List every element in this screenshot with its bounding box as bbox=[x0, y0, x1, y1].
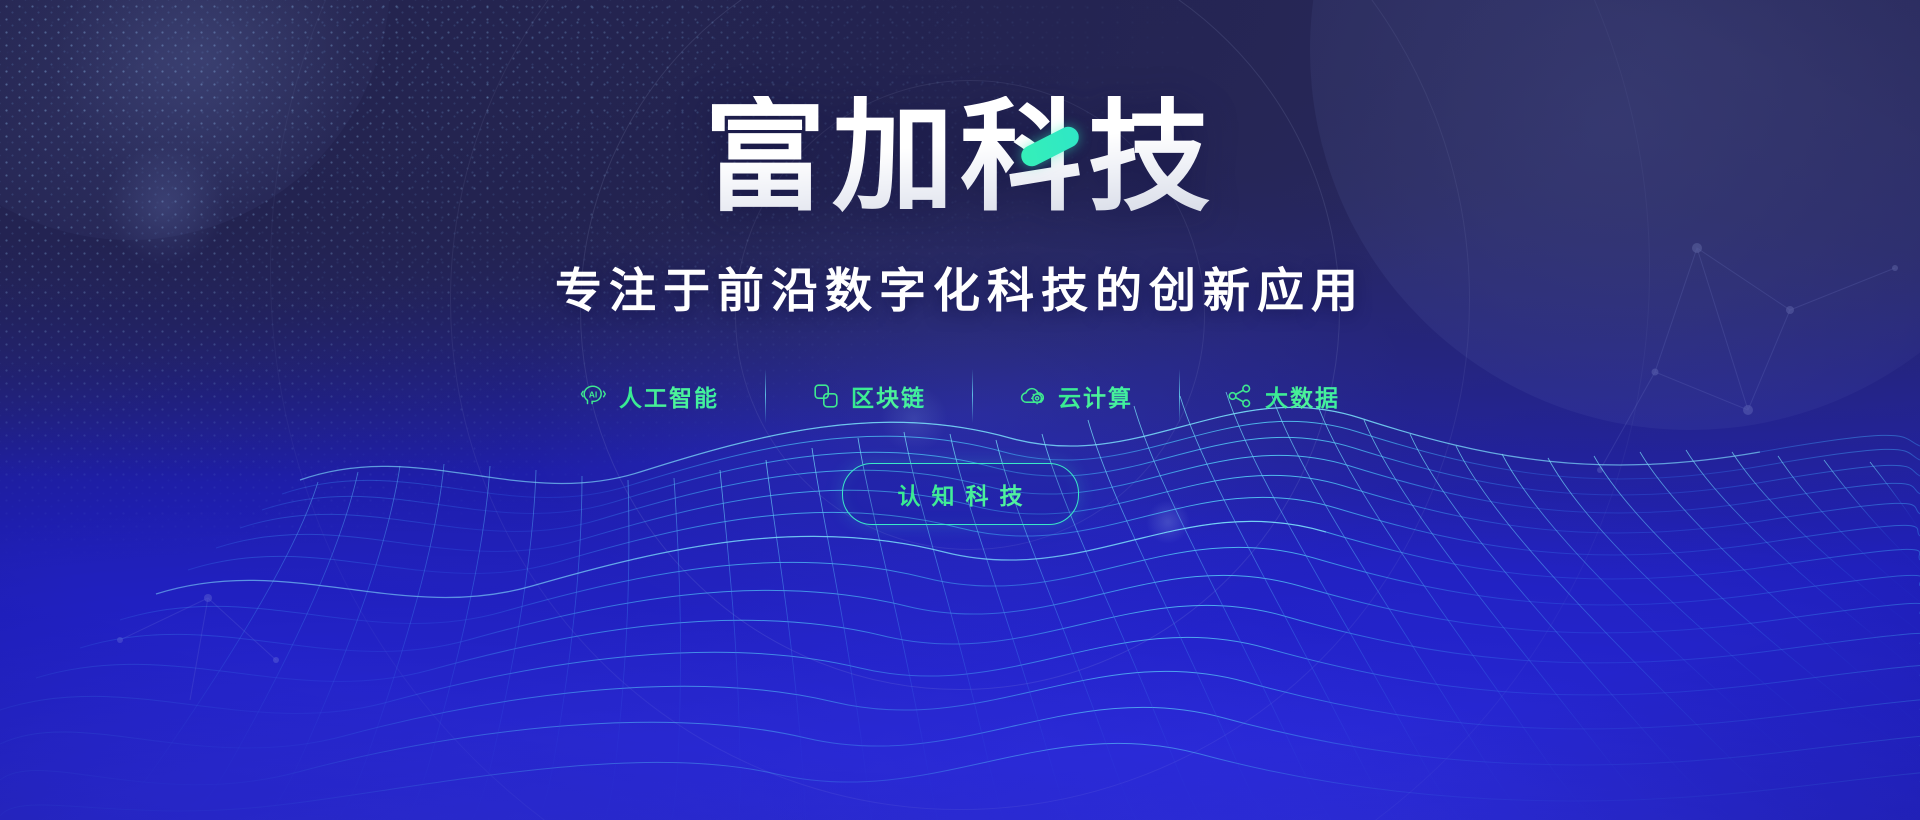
feature-item-bigdata[interactable]: 大数据 bbox=[1180, 379, 1386, 413]
feature-list: AI 人工智能 区块链 bbox=[534, 369, 1386, 423]
brand-logo-text: 富加科技 bbox=[704, 89, 1216, 225]
feature-label: 云计算 bbox=[1058, 379, 1133, 413]
share-nodes-icon bbox=[1226, 382, 1254, 410]
feature-label: 人工智能 bbox=[619, 379, 719, 413]
badge-label: 认知科技 bbox=[887, 483, 1034, 509]
blockchain-icon bbox=[812, 382, 840, 410]
hero-subtitle: 专注于前沿数字化科技的创新应用 bbox=[555, 252, 1365, 321]
ai-head-icon: AI bbox=[580, 382, 608, 410]
feature-label: 大数据 bbox=[1265, 379, 1340, 413]
brand-logo: 富加科技 bbox=[704, 96, 1216, 218]
cloud-gear-icon bbox=[1019, 382, 1047, 410]
feature-item-blockchain[interactable]: 区块链 bbox=[766, 379, 972, 413]
svg-text:AI: AI bbox=[589, 389, 598, 399]
cognitive-tech-badge[interactable]: 认知科技 bbox=[842, 463, 1079, 525]
hero-banner: 富加科技 专注于前沿数字化科技的创新应用 AI 人工智能 bbox=[0, 0, 1920, 820]
feature-item-ai[interactable]: AI 人工智能 bbox=[534, 379, 765, 413]
hero-content: 富加科技 专注于前沿数字化科技的创新应用 AI 人工智能 bbox=[0, 0, 1920, 820]
feature-label: 区块链 bbox=[851, 379, 926, 413]
feature-item-cloud[interactable]: 云计算 bbox=[973, 379, 1179, 413]
